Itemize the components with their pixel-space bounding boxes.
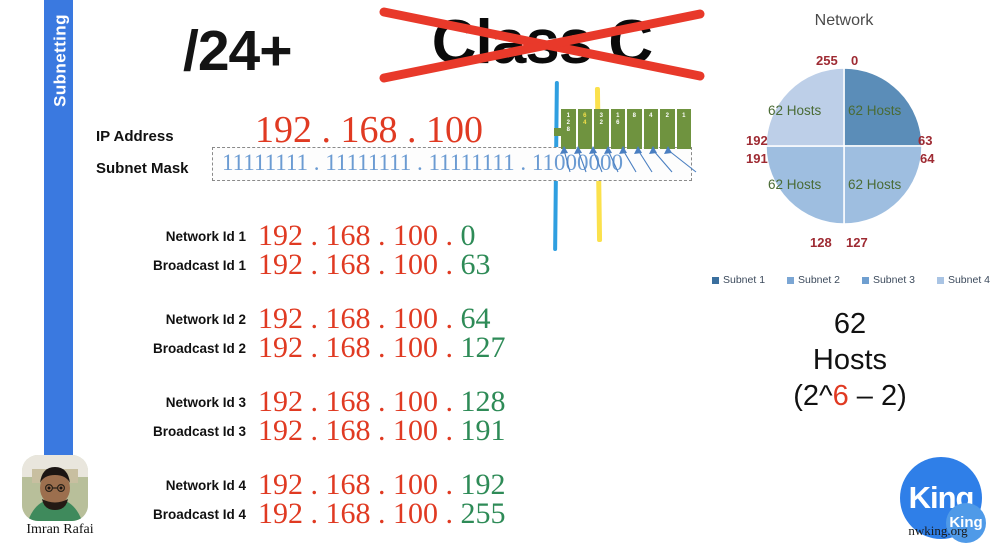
subnet-mask-label: Subnet Mask	[96, 160, 189, 177]
broadcast-id-label: Broadcast Id 3	[136, 424, 246, 439]
network-id-label: Network Id 2	[136, 312, 246, 327]
subnet-group-1: Network Id 1 192 . 168 . 100 . 0 Broadca…	[0, 222, 560, 280]
pie-label-subnet-3: 62 Hosts	[768, 177, 821, 192]
brand-logo[interactable]: King King nwking.org	[900, 457, 992, 549]
pie-boundary-128: 128	[810, 235, 832, 250]
cross-out-icon	[374, 0, 710, 94]
ip-address-label: IP Address	[96, 128, 174, 145]
legend-swatch-subnet-1	[712, 277, 719, 284]
slide-canvas: Subnetting /24+ Class C IP Address Subne…	[0, 0, 1000, 552]
ip-address-value: 192 . 168 . 100	[255, 108, 483, 152]
pie-boundary-0: 0	[851, 53, 858, 68]
legend-label-subnet-2: Subnet 2	[798, 274, 840, 286]
avatar-photo-icon	[22, 455, 88, 521]
chart-legend: Subnet 1 Subnet 2 Subnet 3 Subnet 4	[712, 274, 990, 286]
broadcast-id-row: Broadcast Id 1 192 . 168 . 100 . 63	[0, 251, 560, 280]
pie-boundary-255: 255	[816, 53, 838, 68]
hosts-formula: 62 Hosts (2^6 – 2)	[700, 306, 1000, 414]
broadcast-id-label: Broadcast Id 4	[136, 507, 246, 522]
legend-item-subnet-3[interactable]: Subnet 3	[862, 274, 915, 286]
pie-boundary-192: 192	[746, 133, 768, 148]
avatar	[22, 455, 88, 521]
pie-boundary-191: 191	[746, 151, 768, 166]
broadcast-id-row: Broadcast Id 3 192 . 168 . 100 . 191	[0, 417, 560, 446]
pie-boundary-64: 64	[920, 151, 934, 166]
presenter-name: Imran Rafai	[0, 522, 120, 538]
pie-label-subnet-4: 62 Hosts	[768, 103, 821, 118]
pie-boundary-127: 127	[846, 235, 868, 250]
subnet-group-2: Network Id 2 192 . 168 . 100 . 64 Broadc…	[0, 305, 560, 363]
legend-item-subnet-4[interactable]: Subnet 4	[937, 274, 990, 286]
legend-item-subnet-1[interactable]: Subnet 1	[712, 274, 765, 286]
legend-item-subnet-2[interactable]: Subnet 2	[787, 274, 840, 286]
prefix-length-heading: /24+	[183, 18, 292, 84]
subnet-group-3: Network Id 3 192 . 168 . 100 . 128 Broad…	[0, 388, 560, 446]
sidebar-title: Subnetting	[46, 0, 75, 131]
broadcast-id-value: 192 . 168 . 100 . 255	[258, 497, 506, 531]
hosts-expression: (2^6 – 2)	[700, 378, 1000, 414]
broadcast-id-value: 192 . 168 . 100 . 127	[258, 331, 506, 365]
network-id-label: Network Id 3	[136, 395, 246, 410]
legend-swatch-subnet-4	[937, 277, 944, 284]
broadcast-id-row: Broadcast Id 2 192 . 168 . 100 . 127	[0, 334, 560, 363]
network-id-row: Network Id 2 192 . 168 . 100 . 64	[0, 305, 560, 334]
network-id-row: Network Id 3 192 . 168 . 100 . 128	[0, 388, 560, 417]
broadcast-id-value: 192 . 168 . 100 . 191	[258, 414, 506, 448]
bit-mapping-arrows	[540, 126, 720, 178]
network-id-label: Network Id 4	[136, 478, 246, 493]
legend-label-subnet-1: Subnet 1	[723, 274, 765, 286]
broadcast-id-label: Broadcast Id 2	[136, 341, 246, 356]
broadcast-id-value: 192 . 168 . 100 . 63	[258, 248, 491, 282]
broadcast-id-label: Broadcast Id 1	[136, 258, 246, 273]
legend-label-subnet-4: Subnet 4	[948, 274, 990, 286]
hosts-count: 62	[700, 306, 1000, 342]
class-c-struck-heading: Class C	[392, 4, 692, 86]
hosts-unit: Hosts	[700, 342, 1000, 378]
network-pie-chart	[764, 66, 924, 226]
logo-domain-text: nwking.org	[888, 523, 988, 539]
network-id-label: Network Id 1	[136, 229, 246, 244]
pie-label-subnet-1: 62 Hosts	[848, 103, 901, 118]
network-id-row: Network Id 1 192 . 168 . 100 . 0	[0, 222, 560, 251]
legend-label-subnet-3: Subnet 3	[873, 274, 915, 286]
legend-swatch-subnet-2	[787, 277, 794, 284]
pie-label-subnet-2: 62 Hosts	[848, 177, 901, 192]
pie-svg	[764, 66, 924, 226]
legend-swatch-subnet-3	[862, 277, 869, 284]
pie-boundary-63: 63	[918, 133, 932, 148]
chart-title: Network	[744, 12, 944, 30]
